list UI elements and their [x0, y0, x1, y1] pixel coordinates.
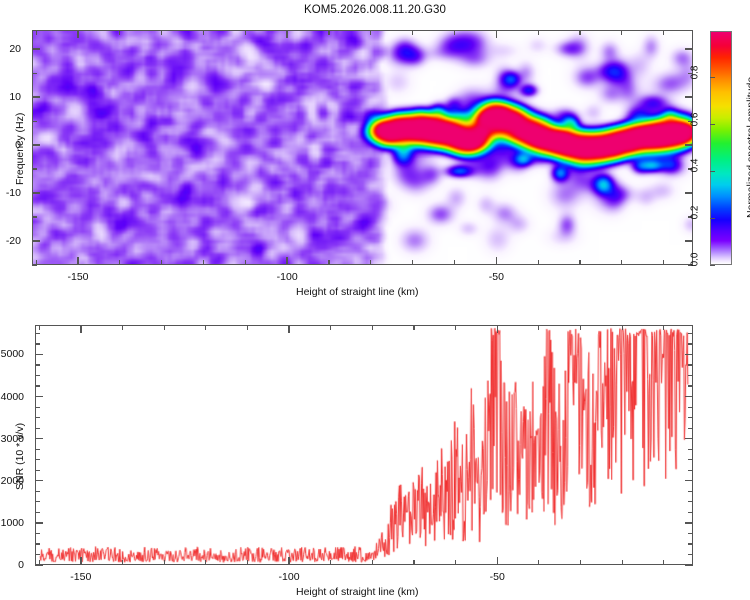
y-tick-label: 1000: [0, 517, 24, 529]
minor-tick-y: [35, 364, 40, 365]
colorbar: [710, 31, 732, 265]
y-tick-label: 5000: [0, 348, 24, 360]
minor-tick-x: [579, 30, 580, 35]
major-tick-x: [497, 557, 498, 565]
minor-tick-y: [688, 449, 693, 450]
minor-tick-x: [203, 30, 204, 35]
y-tick-label: 10: [0, 91, 21, 103]
minor-tick-x: [663, 260, 664, 265]
x-tick-label: -50: [490, 571, 505, 583]
major-tick-y: [685, 564, 693, 565]
snr-y-axis-title: SNR (10 * v/v): [14, 423, 26, 490]
minor-tick-y: [688, 512, 693, 513]
minor-tick-x: [164, 560, 165, 565]
minor-tick-x: [205, 325, 206, 330]
major-tick-y: [685, 240, 693, 241]
colorbar-tick: [710, 265, 715, 266]
minor-tick-y: [688, 428, 693, 429]
minor-tick-x: [245, 260, 246, 265]
major-tick-y: [35, 564, 43, 565]
colorbar-title: Normalized spectral amplitude: [745, 77, 750, 218]
major-tick-y: [32, 192, 40, 193]
minor-tick-x: [413, 560, 414, 565]
major-tick-x: [80, 557, 81, 565]
minor-tick-y: [35, 543, 40, 544]
major-tick-x: [497, 325, 498, 333]
minor-tick-x: [247, 560, 248, 565]
minor-tick-x: [122, 325, 123, 330]
minor-tick-y: [688, 364, 693, 365]
minor-tick-x: [122, 560, 123, 565]
minor-tick-y: [688, 554, 693, 555]
minor-tick-x: [161, 260, 162, 265]
x-tick-label: -100: [279, 571, 300, 583]
minor-tick-x: [328, 30, 329, 35]
major-tick-y: [35, 396, 43, 397]
minor-tick-y: [688, 333, 693, 334]
colorbar-tick-label: 0.0: [690, 253, 701, 275]
x-tick-label: -50: [489, 271, 504, 283]
minor-tick-y: [35, 501, 40, 502]
minor-tick-x: [119, 260, 120, 265]
colorbar-tick-label: 0.8: [690, 65, 701, 87]
major-tick-y: [32, 240, 40, 241]
minor-tick-x: [328, 260, 329, 265]
minor-tick-x: [580, 325, 581, 330]
minor-tick-x: [455, 325, 456, 330]
minor-tick-y: [35, 533, 40, 534]
y-tick-label: 20: [0, 43, 21, 55]
minor-tick-y: [35, 417, 40, 418]
minor-tick-x: [412, 30, 413, 35]
minor-tick-y: [688, 417, 693, 418]
minor-tick-y: [35, 407, 40, 408]
colorbar-tick: [710, 124, 715, 125]
minor-tick-y: [35, 343, 40, 344]
minor-tick-x: [580, 560, 581, 565]
minor-tick-x: [413, 325, 414, 330]
minor-tick-x: [370, 30, 371, 35]
minor-tick-y: [688, 491, 693, 492]
x-tick-label: -150: [68, 271, 89, 283]
minor-tick-x: [372, 325, 373, 330]
minor-tick-x: [622, 325, 623, 330]
major-tick-y: [685, 192, 693, 193]
minor-tick-x: [455, 560, 456, 565]
minor-tick-x: [538, 560, 539, 565]
major-tick-y: [32, 144, 40, 145]
major-tick-y: [35, 480, 43, 481]
minor-tick-x: [247, 325, 248, 330]
minor-tick-x: [622, 560, 623, 565]
major-tick-x: [80, 325, 81, 333]
snr-panel: [35, 325, 693, 565]
minor-tick-y: [35, 459, 40, 460]
minor-tick-y: [688, 343, 693, 344]
minor-tick-y: [688, 543, 693, 544]
minor-tick-x: [372, 560, 373, 565]
minor-tick-x: [621, 30, 622, 35]
major-tick-y: [35, 522, 43, 523]
major-tick-y: [685, 354, 693, 355]
major-tick-y: [685, 144, 693, 145]
minor-tick-x: [454, 260, 455, 265]
minor-tick-x: [119, 30, 120, 35]
major-tick-x: [288, 325, 289, 333]
colorbar-tick: [710, 77, 715, 78]
y-tick-label: -10: [0, 187, 21, 199]
colorbar-tick-label: 0.6: [690, 112, 701, 134]
minor-tick-y: [32, 73, 37, 74]
minor-tick-y: [688, 470, 693, 471]
snr-x-axis-title: Height of straight line (km): [296, 586, 419, 598]
y-tick-label: 4000: [0, 391, 24, 403]
x-tick-label: -100: [277, 271, 298, 283]
minor-tick-x: [205, 560, 206, 565]
colorbar-tick: [710, 218, 715, 219]
minor-tick-x: [412, 260, 413, 265]
minor-tick-x: [454, 30, 455, 35]
spectrogram-x-axis-title: Height of straight line (km): [296, 286, 419, 298]
minor-tick-x: [36, 30, 37, 35]
major-tick-x: [286, 30, 287, 38]
major-tick-x: [288, 557, 289, 565]
minor-tick-x: [663, 325, 664, 330]
minor-tick-x: [203, 260, 204, 265]
major-tick-y: [685, 522, 693, 523]
minor-tick-y: [35, 554, 40, 555]
x-tick-label: -150: [70, 571, 91, 583]
minor-tick-x: [161, 30, 162, 35]
minor-tick-y: [32, 121, 37, 122]
major-tick-x: [77, 30, 78, 38]
minor-tick-x: [538, 260, 539, 265]
major-tick-x: [286, 257, 287, 265]
spectrogram-y-axis-title: Frequency (Hz): [14, 113, 26, 185]
minor-tick-x: [370, 260, 371, 265]
major-tick-y: [35, 354, 43, 355]
major-tick-y: [685, 48, 693, 49]
minor-tick-x: [621, 260, 622, 265]
major-tick-x: [496, 30, 497, 38]
minor-tick-y: [688, 407, 693, 408]
minor-tick-x: [663, 560, 664, 565]
major-tick-x: [77, 257, 78, 265]
minor-tick-x: [538, 325, 539, 330]
minor-tick-y: [688, 385, 693, 386]
spectrogram-panel: [32, 30, 693, 265]
minor-tick-x: [330, 560, 331, 565]
minor-tick-y: [35, 491, 40, 492]
minor-tick-y: [688, 533, 693, 534]
minor-tick-x: [330, 325, 331, 330]
major-tick-y: [685, 480, 693, 481]
colorbar-tick-label: 0.2: [690, 206, 701, 228]
minor-tick-y: [35, 375, 40, 376]
minor-tick-x: [164, 325, 165, 330]
minor-tick-y: [688, 375, 693, 376]
minor-tick-y: [32, 264, 37, 265]
y-tick-label: -20: [0, 235, 21, 247]
minor-tick-y: [688, 501, 693, 502]
colorbar-tick: [710, 171, 715, 172]
minor-tick-x: [663, 30, 664, 35]
y-tick-label: 0: [0, 559, 24, 571]
page-title: KOM5.2026.008.11.20.G30: [0, 4, 750, 16]
minor-tick-y: [35, 333, 40, 334]
minor-tick-x: [39, 325, 40, 330]
spectrogram-image: [33, 31, 692, 264]
major-tick-y: [685, 96, 693, 97]
snr-line-plot: [36, 326, 692, 564]
minor-tick-x: [245, 30, 246, 35]
minor-tick-y: [688, 459, 693, 460]
major-tick-x: [496, 257, 497, 265]
major-tick-y: [685, 396, 693, 397]
minor-tick-y: [32, 216, 37, 217]
minor-tick-x: [538, 30, 539, 35]
minor-tick-y: [32, 168, 37, 169]
minor-tick-y: [35, 385, 40, 386]
colorbar-tick-label: 0.4: [690, 159, 701, 181]
minor-tick-y: [35, 470, 40, 471]
major-tick-y: [35, 438, 43, 439]
major-tick-y: [685, 438, 693, 439]
minor-tick-y: [35, 449, 40, 450]
minor-tick-x: [579, 260, 580, 265]
minor-tick-y: [35, 428, 40, 429]
minor-tick-y: [35, 512, 40, 513]
major-tick-y: [32, 48, 40, 49]
major-tick-y: [32, 96, 40, 97]
